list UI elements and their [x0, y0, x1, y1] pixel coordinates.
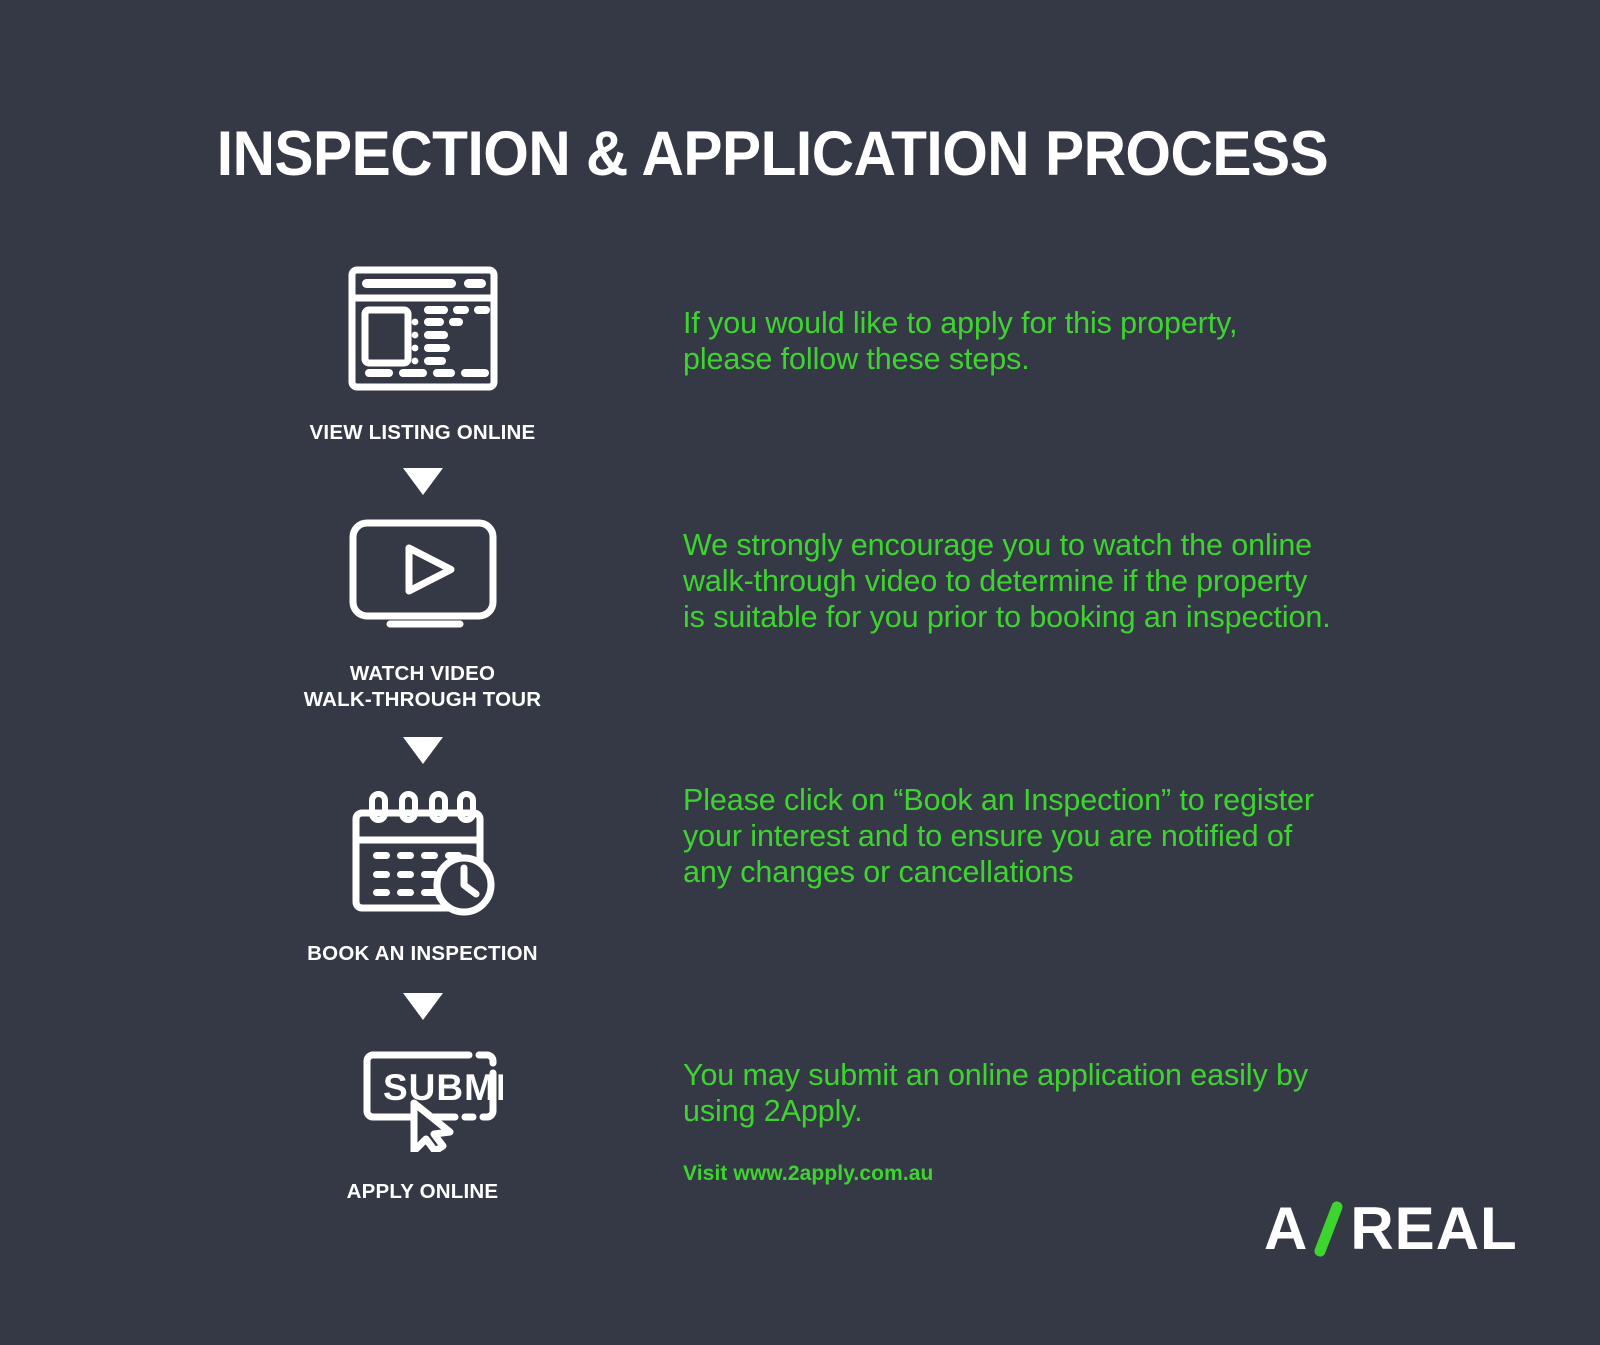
step-label: BOOK AN INSPECTION: [307, 941, 538, 967]
visit-link[interactable]: Visit www.2apply.com.au: [683, 1162, 934, 1186]
note-watch-video: We strongly encourage you to watch the o…: [683, 528, 1331, 636]
areal-logo: A REAL: [1264, 1198, 1518, 1260]
note-apply-intro: If you would like to apply for this prop…: [683, 306, 1237, 378]
calendar-clock-icon: [348, 786, 498, 921]
submit-button-cursor-icon: SUBMIT: [343, 1047, 503, 1157]
arrow-down-2: [300, 713, 545, 764]
step-book-inspection: BOOK AN INSPECTION: [300, 764, 545, 967]
inspection-application-poster: INSPECTION & APPLICATION PROCESS: [0, 0, 1600, 1345]
logo-letter-a: A: [1264, 1199, 1308, 1259]
arrow-down-icon: [403, 468, 443, 495]
process-steps-column: VIEW LISTING ONLINE WATCH VIDEO WALK-THR…: [300, 266, 545, 1205]
step-watch-video: WATCH VIDEO WALK-THROUGH TOUR: [300, 495, 545, 713]
logo-word-real: REAL: [1350, 1199, 1517, 1259]
step-view-listing-online: VIEW LISTING ONLINE: [300, 266, 545, 446]
arrow-down-icon: [403, 993, 443, 1020]
arrow-down-1: [300, 446, 545, 495]
video-play-monitor-icon: [348, 519, 498, 639]
note-apply-online: You may submit an online application eas…: [683, 1058, 1308, 1130]
step-label: WATCH VIDEO WALK-THROUGH TOUR: [304, 661, 542, 713]
arrow-down-3: [300, 967, 545, 1020]
step-label: APPLY ONLINE: [347, 1179, 499, 1205]
slash-icon: [1310, 1200, 1348, 1258]
arrow-down-icon: [403, 737, 443, 764]
step-label: VIEW LISTING ONLINE: [310, 420, 536, 446]
browser-listing-icon: [348, 266, 498, 396]
svg-text:SUBMIT: SUBMIT: [383, 1067, 503, 1108]
step-apply-online: SUBMIT APPLY ONLINE: [300, 1020, 545, 1205]
note-book-inspection: Please click on “Book an Inspection” to …: [683, 783, 1314, 891]
page-title: INSPECTION & APPLICATION PROCESS: [54, 118, 1491, 190]
